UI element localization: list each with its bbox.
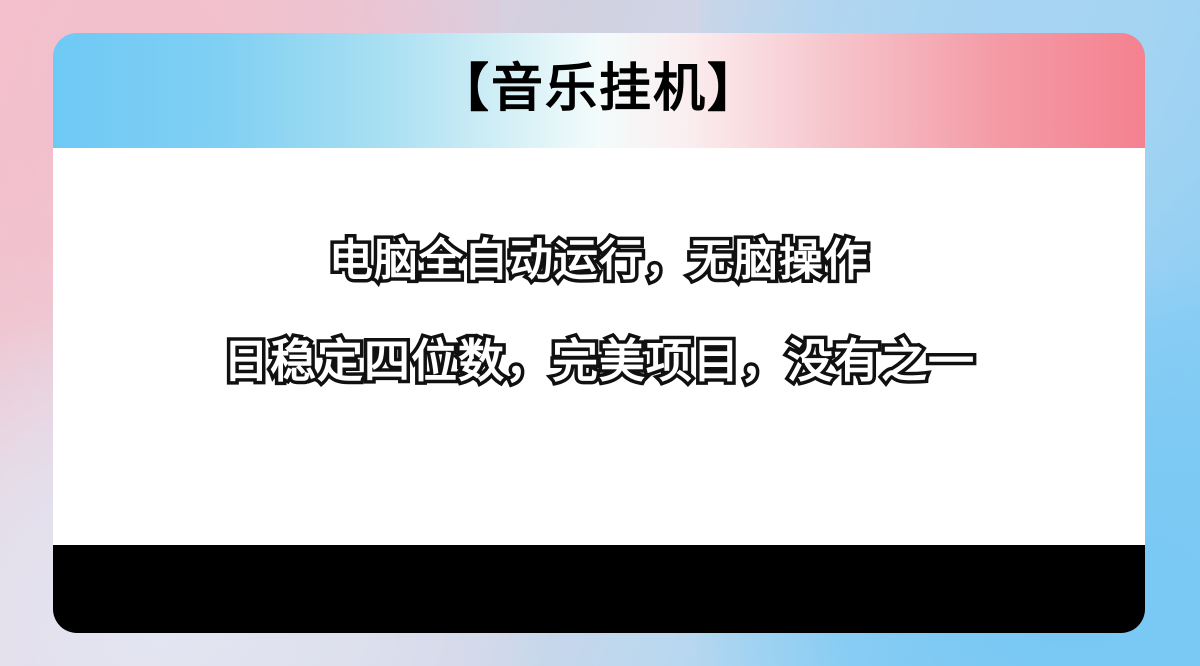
body-line-1: 电脑全自动运行，无脑操作 (329, 236, 869, 287)
card-body: 电脑全自动运行，无脑操作 日稳定四位数，完美项目，没有之一 (53, 148, 1145, 545)
content-card: 【音乐挂机】 电脑全自动运行，无脑操作 日稳定四位数，完美项目，没有之一 (53, 33, 1145, 633)
page-title: 【音乐挂机】 (437, 63, 761, 115)
card-footer-bar (53, 545, 1145, 633)
body-line-2: 日稳定四位数，完美项目，没有之一 (223, 335, 975, 388)
card-header-band: 【音乐挂机】 (53, 33, 1145, 148)
promo-slide: 【音乐挂机】 电脑全自动运行，无脑操作 日稳定四位数，完美项目，没有之一 (0, 0, 1200, 666)
